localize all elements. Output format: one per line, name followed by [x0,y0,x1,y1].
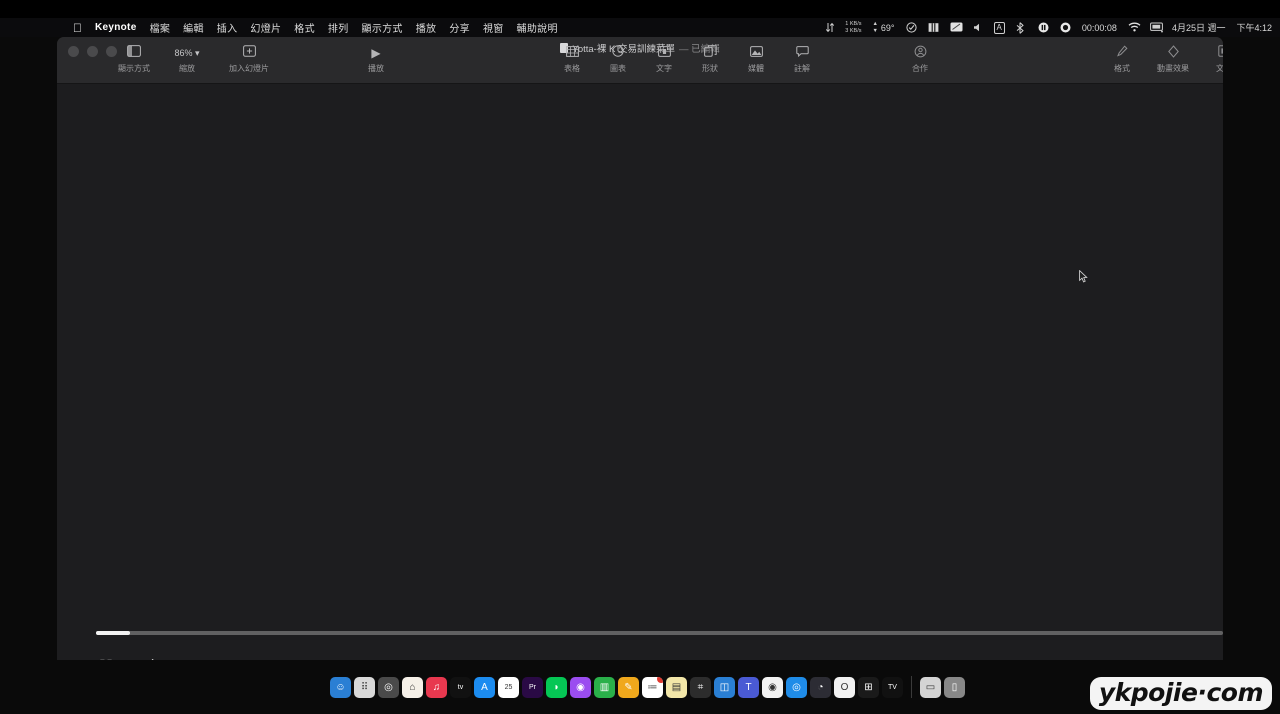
text-input-icon[interactable]: A [994,22,1005,34]
menu-time[interactable]: 下午4:12 [1236,21,1272,34]
dock-item-safari-alt[interactable]: ◎ [378,677,399,698]
dock-item-glyph: ☺ [335,682,345,693]
comment-icon [796,45,809,61]
menu-item-share[interactable]: 分享 [449,20,470,35]
dock-item-tradingview[interactable]: TV [882,677,903,698]
toolbar-text-label: 文字 [656,63,672,74]
menu-bar-left:  Keynote 檔案 編輯 插入 幻燈片 格式 排列 顯示方式 播放 分享 … [0,20,558,35]
dock-item-glyph: ✎ [624,682,632,693]
toolbar-view-label: 顯示方式 [118,63,150,74]
bluetooth-icon[interactable] [1016,22,1027,33]
toolbar-document-label: 文件 [1216,63,1223,74]
toolbar-media-label: 媒體 [748,63,764,74]
toolbar-table-label: 表格 [564,63,580,74]
dock-item-notes-yellow[interactable]: ✎ [618,677,639,698]
toolbar-add-slide-label: 加入幻燈片 [229,63,269,74]
dock-item-calendar[interactable]: 25 [498,677,519,698]
dock-item-glyph: tv [458,684,463,691]
toolbar-table-button[interactable]: 表格 [549,45,595,74]
dock-item-glyph: ≔ [648,682,658,693]
menu-item-format[interactable]: 格式 [294,20,315,35]
video-progress-bar[interactable] [96,631,1223,635]
dock-item-stickies[interactable]: ▤ [666,677,687,698]
shield-icon[interactable] [906,22,917,33]
toolbar-collaborate-label: 合作 [912,63,928,74]
bluetooth-file-icon[interactable] [928,22,939,33]
dock-item-glyph: Pr [529,684,536,691]
dock-item-discord[interactable]: ◔ [810,677,831,698]
dock-item-glyph: ◗ [553,682,559,693]
keynote-toolbar: Yotta-裸 K 交易訓練菜單 — 已編輯 顯示方式 86% ▾ 縮放 [57,37,1223,84]
menu-item-edit[interactable]: 編輯 [183,20,204,35]
sort-status-icon[interactable] [826,22,834,33]
animate-icon [1167,45,1180,61]
shape-icon [704,45,717,61]
toolbar-format-button[interactable]: 格式 [1099,45,1145,74]
dock-item-glyph: ◎ [792,682,801,693]
video-progress-fill [96,631,130,635]
dock-item-glyph: ◫ [720,682,729,693]
dock-item-glyph: ⊞ [864,682,872,693]
dock-item-opera-gx[interactable]: O [834,677,855,698]
dock-item-glyph: ▭ [926,682,935,693]
toolbar-animate-button[interactable]: 動畫效果 [1145,45,1201,74]
menu-item-window[interactable]: 視窗 [483,20,504,35]
volume-status-icon[interactable] [972,22,983,33]
dock-item-glyph: O [841,682,849,693]
dock-separator [911,676,912,698]
toolbar-shape-button[interactable]: 形狀 [687,45,733,74]
cpu-temperature-status[interactable]: ▲▼ 69° [872,21,894,34]
toolbar-collaborate-button[interactable]: 合作 [897,45,943,74]
dock-item-glyph: ⠿ [361,682,368,693]
cpu-temp-value: 69° [881,23,895,33]
toolbar-comment-label: 註解 [794,63,810,74]
toolbar-zoom-value: 86% ▾ [174,45,199,61]
dock-item-glyph: ◉ [768,682,777,693]
trackpad-icon[interactable] [950,22,961,33]
toolbar-collab-group: 合作 [897,45,943,74]
dock-item-glyph: A [481,682,488,693]
network-speed-status[interactable]: 1 KB/s 3 KB/s [845,21,861,34]
network-down-value: 3 KB/s [845,28,861,34]
toolbar-add-slide-button[interactable]: 加入幻燈片 [219,45,279,74]
view-panel-icon [127,45,141,61]
toolbar-document-button[interactable]: 文件 [1201,45,1223,74]
chart-icon [612,45,624,61]
dock-item-calculator[interactable]: ⌗ [690,677,711,698]
toolbar-play-label: 播放 [368,63,384,74]
dock-item-glyph: ⌗ [698,682,704,693]
dock-item-line[interactable]: ◗ [546,677,567,698]
dock-item-glyph: ◎ [384,682,393,693]
dock-item-reminders[interactable]: ≔ [642,677,663,698]
toolbar-shape-label: 形狀 [702,63,718,74]
toolbar-left-group: 顯示方式 86% ▾ 縮放 加入幻燈片 [111,45,279,74]
toolbar-media-button[interactable]: 媒體 [733,45,779,74]
menu-date[interactable]: 4月25日 週一 [1172,21,1226,34]
dock-item-glyph: ⌂ [409,682,415,693]
dock-item-keynote[interactable]: ◫ [714,677,735,698]
timer-stop-icon[interactable] [1060,22,1071,33]
menu-item-slide[interactable]: 幻燈片 [250,20,281,35]
network-up-value: 1 KB/s [845,21,861,27]
mouse-cursor [1079,270,1088,283]
toolbar-animate-label: 動畫效果 [1157,63,1189,74]
toolbar-right-group: 格式 動畫效果 文件 [1099,45,1223,74]
dock-item-preview[interactable]: ▭ [920,677,941,698]
menu-item-view[interactable]: 顯示方式 [362,20,403,35]
control-center-icon[interactable] [1150,22,1161,33]
dock-item-glyph: TV [888,684,897,691]
toolbar-play-button[interactable]: ▶ 播放 [353,45,399,74]
dock-item-messenger[interactable]: ◉ [570,677,591,698]
toolbar-view-button[interactable]: 顯示方式 [111,45,157,74]
dock-item-glyph: ▯ [952,682,958,693]
dock-item-teams[interactable]: T [738,677,759,698]
menu-item-play[interactable]: 播放 [416,20,437,35]
dock-item-app-store[interactable]: A [474,677,495,698]
toolbar-chart-label: 圖表 [610,63,626,74]
macos-dock: ☺⠿◎⌂♫tvA25Pr◗◉▥✎≔▤⌗◫T◉◎◔O⊞TV▭▯ [0,660,1280,714]
desktop:  Keynote 檔案 編輯 插入 幻燈片 格式 排列 顯示方式 播放 分享 … [0,0,1280,714]
dock-item-launchpad[interactable]: ⠿ [354,677,375,698]
media-icon [750,45,763,61]
dock-item-premiere-pro[interactable]: Pr [522,677,543,698]
text-box-icon [658,45,671,61]
top-black-strip [0,0,1280,18]
dock-items: ☺⠿◎⌂♫tvA25Pr◗◉▥✎≔▤⌗◫T◉◎◔O⊞TV▭▯ [0,676,965,698]
menu-item-insert[interactable]: 插入 [217,20,238,35]
site-watermark: ykpojie·com [1090,677,1272,710]
dock-item-numbers[interactable]: ▥ [594,677,615,698]
dock-item-music[interactable]: ♫ [426,677,447,698]
timer-pause-icon[interactable] [1038,22,1049,33]
dock-item-glyph: ♫ [433,682,441,693]
document-icon [1218,45,1223,61]
dock-item-glyph: ◔ [817,682,823,693]
toolbar-play-group: ▶ 播放 [353,45,399,74]
keynote-window: Yotta-裸 K 交易訓練菜單 — 已編輯 顯示方式 86% ▾ 縮放 [57,37,1223,665]
dock-item-glyph: T [745,682,751,693]
menu-bar:  Keynote 檔案 編輯 插入 幻燈片 格式 排列 顯示方式 播放 分享 … [0,18,1280,37]
dock-item-glyph: ◉ [576,682,585,693]
apple-logo-icon[interactable]:  [73,22,82,34]
dock-item-glyph: ▤ [672,682,681,693]
dock-item-safari[interactable]: ◎ [786,677,807,698]
menu-item-help[interactable]: 輔助說明 [517,20,558,35]
wifi-icon[interactable] [1128,22,1139,33]
add-slide-icon [243,45,256,61]
toolbar-zoom-label: 縮放 [179,63,195,74]
menu-item-app-name[interactable]: Keynote [95,22,137,33]
dock-item-glyph: ▥ [600,682,609,693]
dock-item-trash[interactable]: ▯ [944,677,965,698]
toolbar-text-button[interactable]: 文字 [641,45,687,74]
dock-item-home[interactable]: ⌂ [402,677,423,698]
toolbar-format-label: 格式 [1114,63,1130,74]
dock-item-apple-tv[interactable]: tv [450,677,471,698]
dock-item-finder[interactable]: ☺ [330,677,351,698]
dock-item-glyph: 25 [505,684,513,691]
menu-item-arrange[interactable]: 排列 [328,20,349,35]
dock-item-badge [657,677,663,683]
collaborate-icon [914,45,927,61]
dock-item-microsoft-store[interactable]: ⊞ [858,677,879,698]
format-brush-icon [1116,45,1128,61]
toolbar-zoom-select[interactable]: 86% ▾ 縮放 [161,45,213,74]
menu-item-file[interactable]: 檔案 [150,20,171,35]
dock-item-chrome[interactable]: ◉ [762,677,783,698]
menu-bar-status-area: 1 KB/s 3 KB/s ▲▼ 69° A [826,21,1280,34]
table-icon [566,45,579,61]
toolbar-center-group: 表格 圖表 文字 形狀 [549,45,825,74]
timer-value[interactable]: 00:00:08 [1082,23,1117,33]
toolbar-chart-button[interactable]: 圖表 [595,45,641,74]
chevron-down-icon: ▾ [195,48,200,58]
toolbar-comment-button[interactable]: 註解 [779,45,825,74]
play-icon: ▶ [371,45,380,61]
